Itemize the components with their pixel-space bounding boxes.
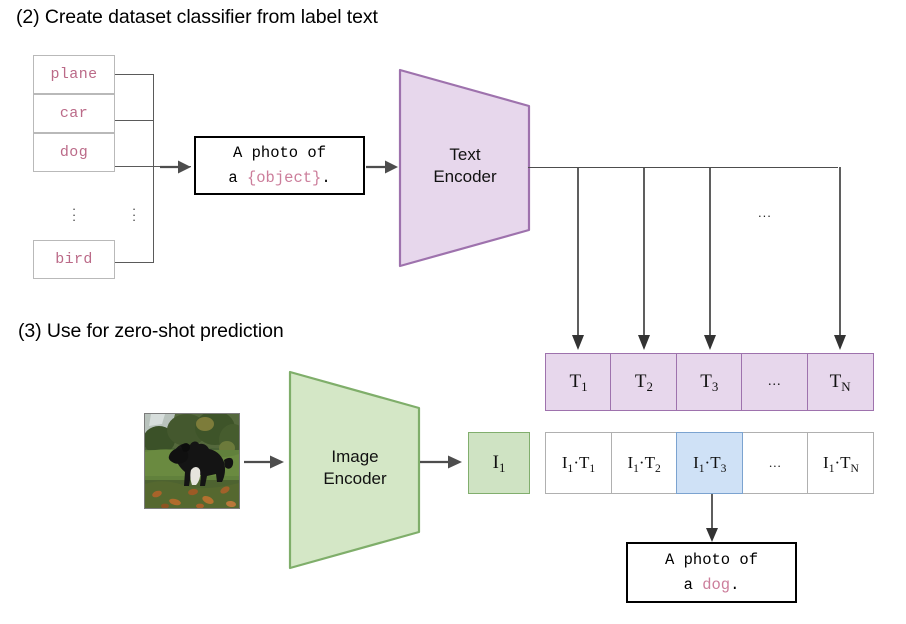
similarity-row: I1·T1 I1·T2 I1·T3 ... I1·TN bbox=[545, 432, 874, 494]
arrow-labels-to-prompt bbox=[160, 158, 196, 176]
connector-vertical-ellipsis: . . . bbox=[129, 203, 139, 220]
label-text-plane: plane bbox=[50, 66, 97, 83]
heading-step-2: (2) Create dataset classifier from label… bbox=[16, 6, 378, 29]
subscript: 2 bbox=[646, 379, 652, 394]
subscript: N bbox=[851, 462, 859, 475]
prediction-line-2-prefix: a bbox=[684, 576, 703, 594]
connector-plane bbox=[115, 74, 154, 75]
text-embedding-label-3: T3 bbox=[700, 371, 718, 393]
image-encoder-shape[interactable]: Image Encoder bbox=[288, 368, 422, 572]
prediction-box[interactable]: A photo of a dog. bbox=[626, 542, 797, 603]
subscript: 1 bbox=[589, 462, 595, 475]
subscript: 1 bbox=[581, 379, 587, 394]
prompt-template-box[interactable]: A photo of a {object}. bbox=[194, 136, 365, 195]
dot: . bbox=[69, 214, 79, 220]
subscript: 1 bbox=[829, 462, 835, 475]
label-box-car[interactable]: car bbox=[33, 94, 115, 133]
similarity-cell-n[interactable]: I1·TN bbox=[807, 432, 874, 494]
connector-car bbox=[115, 120, 154, 121]
label-text-dog: dog bbox=[60, 144, 88, 161]
text-embeddings-row: T1 T2 T3 ... TN bbox=[545, 353, 874, 411]
arrow-prompt-to-text-encoder bbox=[366, 158, 402, 176]
connector-bus-vertical bbox=[153, 74, 154, 263]
similarity-cell-ellipsis: ... bbox=[742, 432, 809, 494]
prompt-line-2-accent: {object} bbox=[247, 169, 321, 187]
prompt-line-1: A photo of bbox=[233, 141, 326, 165]
arrow-bus-to-t1 bbox=[570, 167, 586, 353]
text-embedding-cell-n[interactable]: TN bbox=[807, 353, 874, 411]
dot: . bbox=[129, 214, 139, 220]
subscript: 3 bbox=[721, 462, 727, 475]
subscript: 1 bbox=[699, 462, 705, 475]
arrow-bus-to-t3 bbox=[702, 167, 718, 353]
arrow-image-to-encoder bbox=[244, 453, 288, 471]
heading-step-3: (3) Use for zero-shot prediction bbox=[18, 320, 284, 343]
similarity-label-ellipsis: ... bbox=[769, 455, 782, 471]
label-text-car: car bbox=[60, 105, 88, 122]
input-image-thumbnail[interactable] bbox=[144, 413, 240, 509]
label-text-bird: bird bbox=[55, 251, 93, 268]
subscript: 2 bbox=[655, 462, 661, 475]
similarity-label-1: I1·T1 bbox=[562, 453, 595, 473]
image-embedding-box[interactable]: I1 bbox=[468, 432, 530, 494]
similarity-cell-2[interactable]: I1·T2 bbox=[611, 432, 678, 494]
connector-bird bbox=[115, 262, 154, 263]
similarity-label-2: I1·T2 bbox=[627, 453, 660, 473]
clip-zero-shot-diagram: (2) Create dataset classifier from label… bbox=[0, 0, 906, 624]
text-embedding-cell-ellipsis: ... bbox=[741, 353, 808, 411]
arrow-bus-to-t2 bbox=[636, 167, 652, 353]
prediction-line-2-accent: dog bbox=[702, 576, 730, 594]
text-embedding-cell-2[interactable]: T2 bbox=[610, 353, 677, 411]
text-embedding-cell-1[interactable]: T1 bbox=[545, 353, 612, 411]
prediction-line-2-suffix: . bbox=[730, 576, 739, 594]
text-embedding-label-2: T2 bbox=[635, 371, 653, 393]
image-embedding-label: I1 bbox=[493, 452, 506, 474]
label-box-dog[interactable]: dog bbox=[33, 133, 115, 172]
labels-vertical-ellipsis: . . . bbox=[69, 203, 79, 220]
prompt-line-2: a {object}. bbox=[228, 166, 330, 190]
subscript: N bbox=[841, 379, 850, 394]
subscript: 1 bbox=[568, 462, 574, 475]
text-encoder-shape[interactable]: Text Encoder bbox=[398, 66, 532, 270]
subscript: 1 bbox=[633, 462, 639, 475]
prompt-line-2-suffix: . bbox=[321, 169, 330, 187]
prompt-line-2-prefix: a bbox=[228, 169, 247, 187]
similarity-cell-1[interactable]: I1·T1 bbox=[545, 432, 612, 494]
similarity-label-3: I1·T3 bbox=[693, 453, 726, 473]
similarity-cell-3-selected[interactable]: I1·T3 bbox=[676, 432, 743, 494]
subscript: 1 bbox=[499, 460, 505, 475]
label-box-bird[interactable]: bird bbox=[33, 240, 115, 279]
bus-ellipsis: ... bbox=[758, 205, 772, 220]
arrow-encoder-to-image-embedding bbox=[420, 453, 466, 471]
subscript: 3 bbox=[712, 379, 718, 394]
prediction-line-2: a dog. bbox=[684, 573, 740, 597]
dog-photo-illustration bbox=[145, 414, 239, 508]
arrow-bus-to-tn bbox=[832, 167, 848, 353]
prediction-line-1: A photo of bbox=[665, 548, 758, 572]
label-box-plane[interactable]: plane bbox=[33, 55, 115, 94]
text-embedding-label-ellipsis: ... bbox=[768, 374, 782, 390]
arrow-selected-to-prediction bbox=[704, 494, 720, 544]
text-embedding-label-n: TN bbox=[830, 371, 851, 393]
similarity-label-n: I1·TN bbox=[823, 453, 859, 473]
text-embedding-cell-3[interactable]: T3 bbox=[676, 353, 743, 411]
text-embedding-label-1: T1 bbox=[569, 371, 587, 393]
